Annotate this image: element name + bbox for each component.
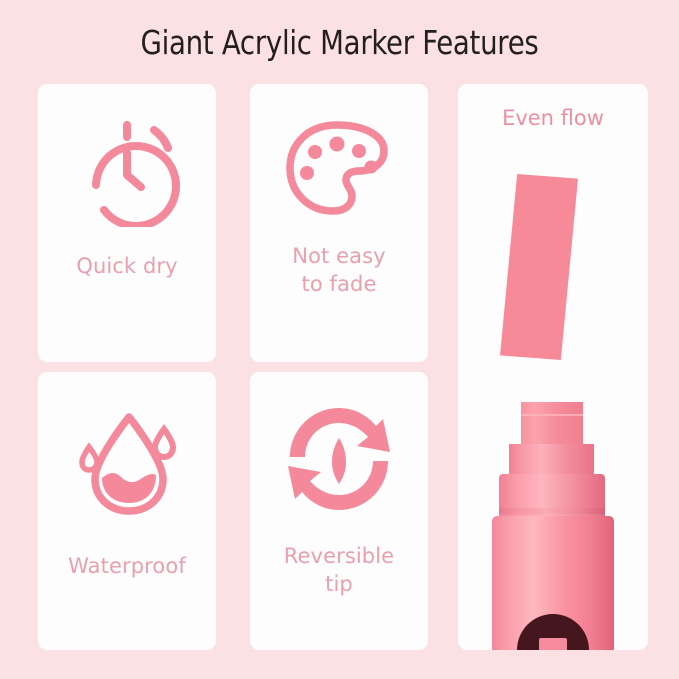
feature-label-quick-dry: Quick dry bbox=[38, 252, 216, 280]
feature-label-not-easy-to-fade-line1: Not easy bbox=[250, 242, 428, 270]
water-drop-icon bbox=[38, 394, 216, 524]
showcase-card-even-flow: Even flow bbox=[458, 84, 648, 650]
marker-label-window bbox=[539, 638, 567, 650]
feature-card-not-easy-to-fade: Not easy to fade bbox=[250, 84, 428, 362]
paint-stroke-swatch bbox=[500, 174, 578, 360]
feature-card-reversible-tip: Reversible tip bbox=[250, 372, 428, 650]
feature-card-quick-dry: Quick dry bbox=[38, 84, 216, 362]
marker-neck bbox=[509, 444, 594, 476]
feature-card-waterproof: Waterproof bbox=[38, 372, 216, 650]
marker-chisel-tip bbox=[521, 402, 583, 446]
marker-tip-highlight bbox=[521, 414, 583, 416]
feature-label-not-easy-to-fade-line2: to fade bbox=[250, 270, 428, 298]
paint-palette-icon bbox=[250, 106, 428, 236]
showcase-label-even-flow: Even flow bbox=[458, 104, 648, 132]
acrylic-marker-illustration bbox=[458, 402, 648, 650]
stopwatch-icon bbox=[38, 106, 216, 236]
rotate-arrows-icon bbox=[250, 394, 428, 524]
feature-label-waterproof: Waterproof bbox=[38, 552, 216, 580]
page-title: Giant Acrylic Marker Features bbox=[24, 22, 655, 64]
feature-infographic: Giant Acrylic Marker Features Quick dry bbox=[0, 0, 679, 679]
feature-label-reversible-tip-line1: Reversible bbox=[250, 542, 428, 570]
feature-label-reversible-tip-line2: tip bbox=[250, 570, 428, 598]
